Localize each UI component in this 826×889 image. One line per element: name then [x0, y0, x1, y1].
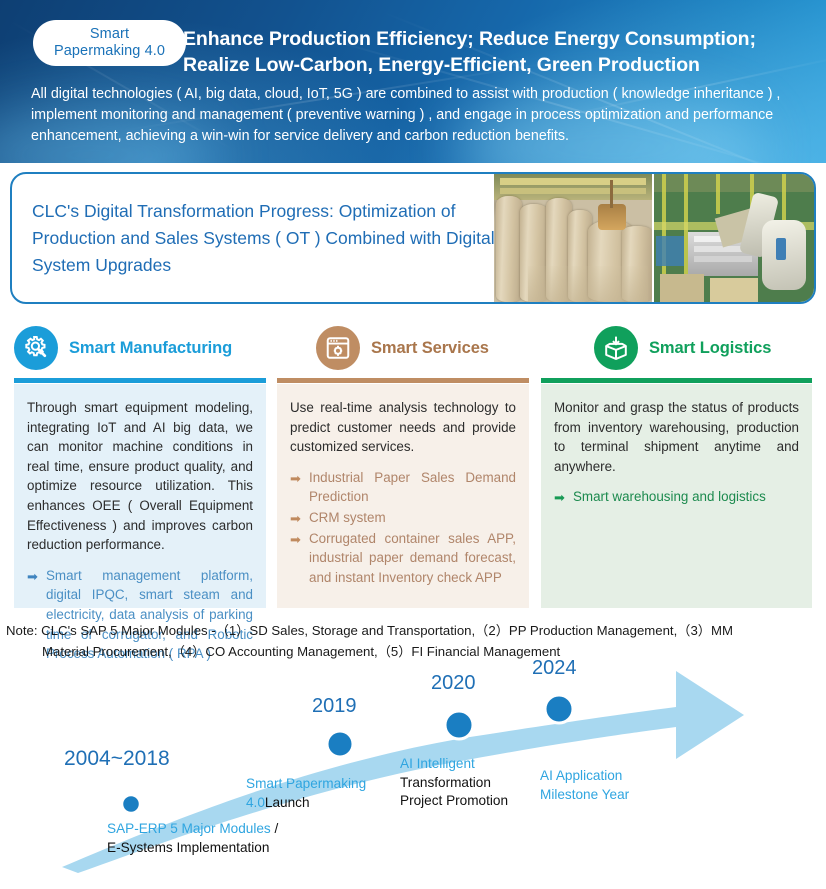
timeline-caption-1-black: Launch [265, 795, 310, 810]
pillar-label: Smart Services [371, 339, 489, 358]
panel-top-rule [277, 378, 529, 383]
timeline-year-2: 2020 [431, 672, 476, 695]
transformation-timeline-chart: 2004~2018 2019 2020 2024 SAP-ERP 5 Major… [0, 655, 826, 884]
pillar-label: Smart Logistics [649, 339, 771, 358]
timeline-caption-1: Smart Papermaking 4.0Launch [246, 775, 384, 812]
panel-lead-text: Through smart equipment modeling, integr… [27, 398, 253, 555]
banner-body-text: All digital technologies ( AI, big data,… [31, 84, 803, 147]
timeline-year-1: 2019 [312, 695, 357, 718]
timeline-caption-0-black: E-Systems Implementation [107, 840, 269, 855]
timeline-year-0: 2004~2018 [64, 747, 170, 771]
timeline-caption-2-black: Transformation Project Promotion [400, 775, 508, 809]
list-item-label: Smart warehousing and logistics [573, 489, 766, 504]
panel-smart-manufacturing: Through smart equipment modeling, integr… [14, 384, 266, 608]
arrow-bullet-icon: ➡ [290, 510, 301, 527]
list-item-label: Corrugated container sales APP, industri… [309, 531, 516, 585]
timeline-caption-3: AI Application Milestone Year [540, 767, 660, 804]
panel-top-rule [14, 378, 266, 383]
timeline-caption-0-blue: SAP-ERP 5 Major Modules [107, 821, 271, 836]
panel-smart-services: Use real-time analysis technology to pre… [277, 384, 529, 608]
badge-line-1: Smart [90, 26, 129, 43]
badge-line-2: Papermaking 4.0 [54, 43, 165, 60]
pillar-header-smart-services: Smart Services [316, 322, 489, 374]
arrow-bullet-icon: ➡ [27, 568, 38, 585]
gear-wrench-icon [14, 326, 58, 370]
panel-top-rule [541, 378, 812, 383]
banner-title: Enhance Production Efficiency; Reduce En… [183, 26, 815, 78]
pillar-label: Smart Manufacturing [69, 339, 232, 358]
digital-transformation-card: CLC's Digital Transformation Progress: O… [10, 172, 816, 304]
list-item: ➡ Corrugated container sales APP, indust… [290, 529, 516, 588]
timeline-year-3: 2024 [532, 657, 577, 680]
arrow-bullet-icon: ➡ [290, 531, 301, 548]
timeline-marker-2024 [545, 695, 573, 723]
panel-lead-text: Monitor and grasp the status of products… [554, 398, 799, 476]
header-banner: Smart Papermaking 4.0 Enhance Production… [0, 0, 826, 163]
arrow-bullet-icon: ➡ [554, 489, 565, 506]
panel-bullet-list: ➡ Industrial Paper Sales Demand Predicti… [290, 468, 516, 588]
timeline-caption-2-blue: AI Intelligent [400, 756, 475, 771]
timeline-caption-3-blue: AI Application Milestone Year [540, 768, 629, 802]
panel-smart-logistics: Monitor and grasp the status of products… [541, 384, 812, 608]
browser-gear-icon [316, 326, 360, 370]
pillar-header-smart-logistics: Smart Logistics [594, 322, 771, 374]
pillar-header-smart-manufacturing: Smart Manufacturing [14, 322, 232, 374]
note-line-1: Note: CLC's SAP 5 Major Modules -（1）SD S… [6, 623, 733, 638]
timeline-caption-0: SAP-ERP 5 Major Modules / E-Systems Impl… [107, 820, 278, 857]
smart-papermaking-badge: Smart Papermaking 4.0 [33, 20, 186, 66]
list-item: ➡ CRM system [290, 508, 516, 528]
timeline-marker-2020 [445, 711, 473, 739]
panel-bullet-list: ➡ Smart warehousing and logistics [554, 487, 799, 507]
digital-transformation-text: CLC's Digital Transformation Progress: O… [32, 198, 502, 279]
arrow-bullet-icon: ➡ [290, 470, 301, 487]
list-item: ➡ Industrial Paper Sales Demand Predicti… [290, 468, 516, 507]
list-item: ➡ Smart warehousing and logistics [554, 487, 799, 507]
timeline-marker-2019 [327, 731, 353, 757]
list-item-label: CRM system [309, 510, 386, 525]
list-item-label: Industrial Paper Sales Demand Prediction [309, 470, 516, 505]
paper-rolls-photo [494, 174, 652, 302]
timeline-caption-0-sep: / [271, 821, 279, 836]
timeline-marker-2004-2018 [122, 795, 140, 813]
open-box-arrow-icon [594, 326, 638, 370]
robotic-palletizer-photo [654, 174, 814, 302]
timeline-caption-2: AI Intelligent Transformation Project Pr… [400, 755, 528, 811]
card-photo-group [494, 174, 814, 302]
panel-lead-text: Use real-time analysis technology to pre… [290, 398, 516, 457]
